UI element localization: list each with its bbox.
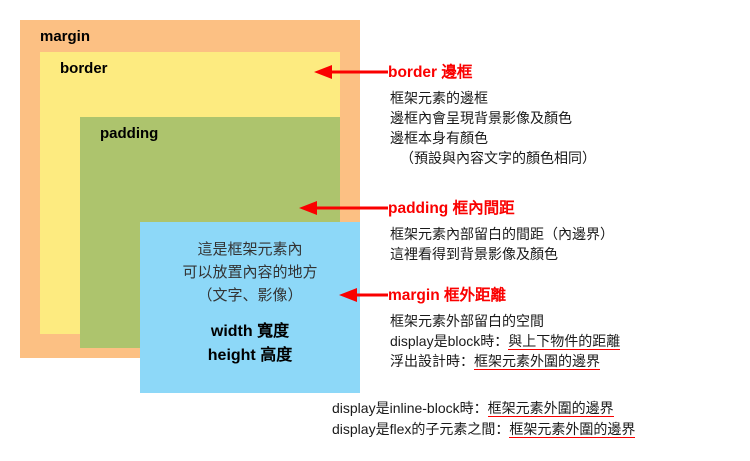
margin-line-3-prefix: 浮出設計時： xyxy=(390,353,474,369)
border-annotation-body: 框架元素的邊框 邊框內會呈現背景影像及顏色 邊框本身有顏色 （預設與內容文字的顏… xyxy=(390,88,596,168)
box-model-diagram: margin border padding 這是框架元素內 可以放置內容的地方 … xyxy=(20,20,360,358)
margin-line-5-prefix: display是flex的子元素之間： xyxy=(332,421,509,437)
border-annotation-line-3: 邊框本身有顏色 xyxy=(390,128,596,148)
padding-box-label: padding xyxy=(100,125,158,142)
padding-pointer-arrow-icon xyxy=(299,200,388,216)
padding-box-layer: padding 這是框架元素內 可以放置內容的地方 （文字、影像） width … xyxy=(80,117,340,348)
padding-annotation-line-1: 框架元素內部留白的間距（內邊界） xyxy=(390,224,614,244)
content-line-3: （文字、影像） xyxy=(140,284,360,307)
margin-annotation-body: 框架元素外部留白的空間 display是block時：與上下物件的距離 浮出設計… xyxy=(390,311,620,371)
border-annotation-line-2: 邊框內會呈現背景影像及顏色 xyxy=(390,108,596,128)
border-annotation-line-4: （預設與內容文字的顏色相同） xyxy=(390,148,596,168)
margin-pointer-arrow-icon xyxy=(339,287,388,303)
content-description-text: 這是框架元素內 可以放置內容的地方 （文字、影像） xyxy=(140,238,360,307)
margin-line-2-underlined: 與上下物件的距離 xyxy=(508,333,620,350)
border-annotation-heading: border 邊框 xyxy=(388,60,472,82)
margin-line-4-prefix: display是inline-block時： xyxy=(332,400,488,416)
margin-annotation-line-5: display是flex的子元素之間：框架元素外圍的邊界 xyxy=(332,419,635,440)
margin-annotation-heading: margin 框外距離 xyxy=(388,283,506,305)
border-box-layer: border padding 這是框架元素內 可以放置內容的地方 （文字、影像）… xyxy=(40,52,340,334)
margin-annotation-line-2: display是block時：與上下物件的距離 xyxy=(390,331,620,351)
padding-annotation-body: 框架元素內部留白的間距（內邊界） 這裡看得到背景影像及顏色 xyxy=(390,224,614,264)
content-line-2: 可以放置內容的地方 xyxy=(140,261,360,284)
margin-annotation-line-1: 框架元素外部留白的空間 xyxy=(390,311,620,331)
content-line-1: 這是框架元素內 xyxy=(140,238,360,261)
width-dimension-label: width 寬度 xyxy=(140,320,360,344)
border-annotation-line-1: 框架元素的邊框 xyxy=(390,88,596,108)
content-box-layer: 這是框架元素內 可以放置內容的地方 （文字、影像） width 寬度 heigh… xyxy=(140,222,360,393)
margin-annotation-line-3: 浮出設計時：框架元素外圍的邊界 xyxy=(390,351,620,371)
margin-line-4-underlined: 框架元素外圍的邊界 xyxy=(488,400,614,417)
margin-box-layer: margin border padding 這是框架元素內 可以放置內容的地方 … xyxy=(20,20,360,358)
margin-annotation-line-4: display是inline-block時：框架元素外圍的邊界 xyxy=(332,398,635,419)
padding-annotation-line-2: 這裡看得到背景影像及顏色 xyxy=(390,244,614,264)
margin-line-3-underlined: 框架元素外圍的邊界 xyxy=(474,353,600,370)
margin-line-2-prefix: display是block時： xyxy=(390,333,508,349)
padding-annotation-heading: padding 框內間距 xyxy=(388,196,515,218)
border-pointer-arrow-icon xyxy=(314,64,388,80)
height-dimension-label: height 高度 xyxy=(140,344,360,368)
margin-annotation-extra-body: display是inline-block時：框架元素外圍的邊界 display是… xyxy=(332,398,635,440)
margin-line-5-underlined: 框架元素外圍的邊界 xyxy=(509,421,635,438)
content-dimension-text: width 寬度 height 高度 xyxy=(140,320,360,368)
margin-box-label: margin xyxy=(40,28,90,45)
border-box-label: border xyxy=(60,60,108,77)
